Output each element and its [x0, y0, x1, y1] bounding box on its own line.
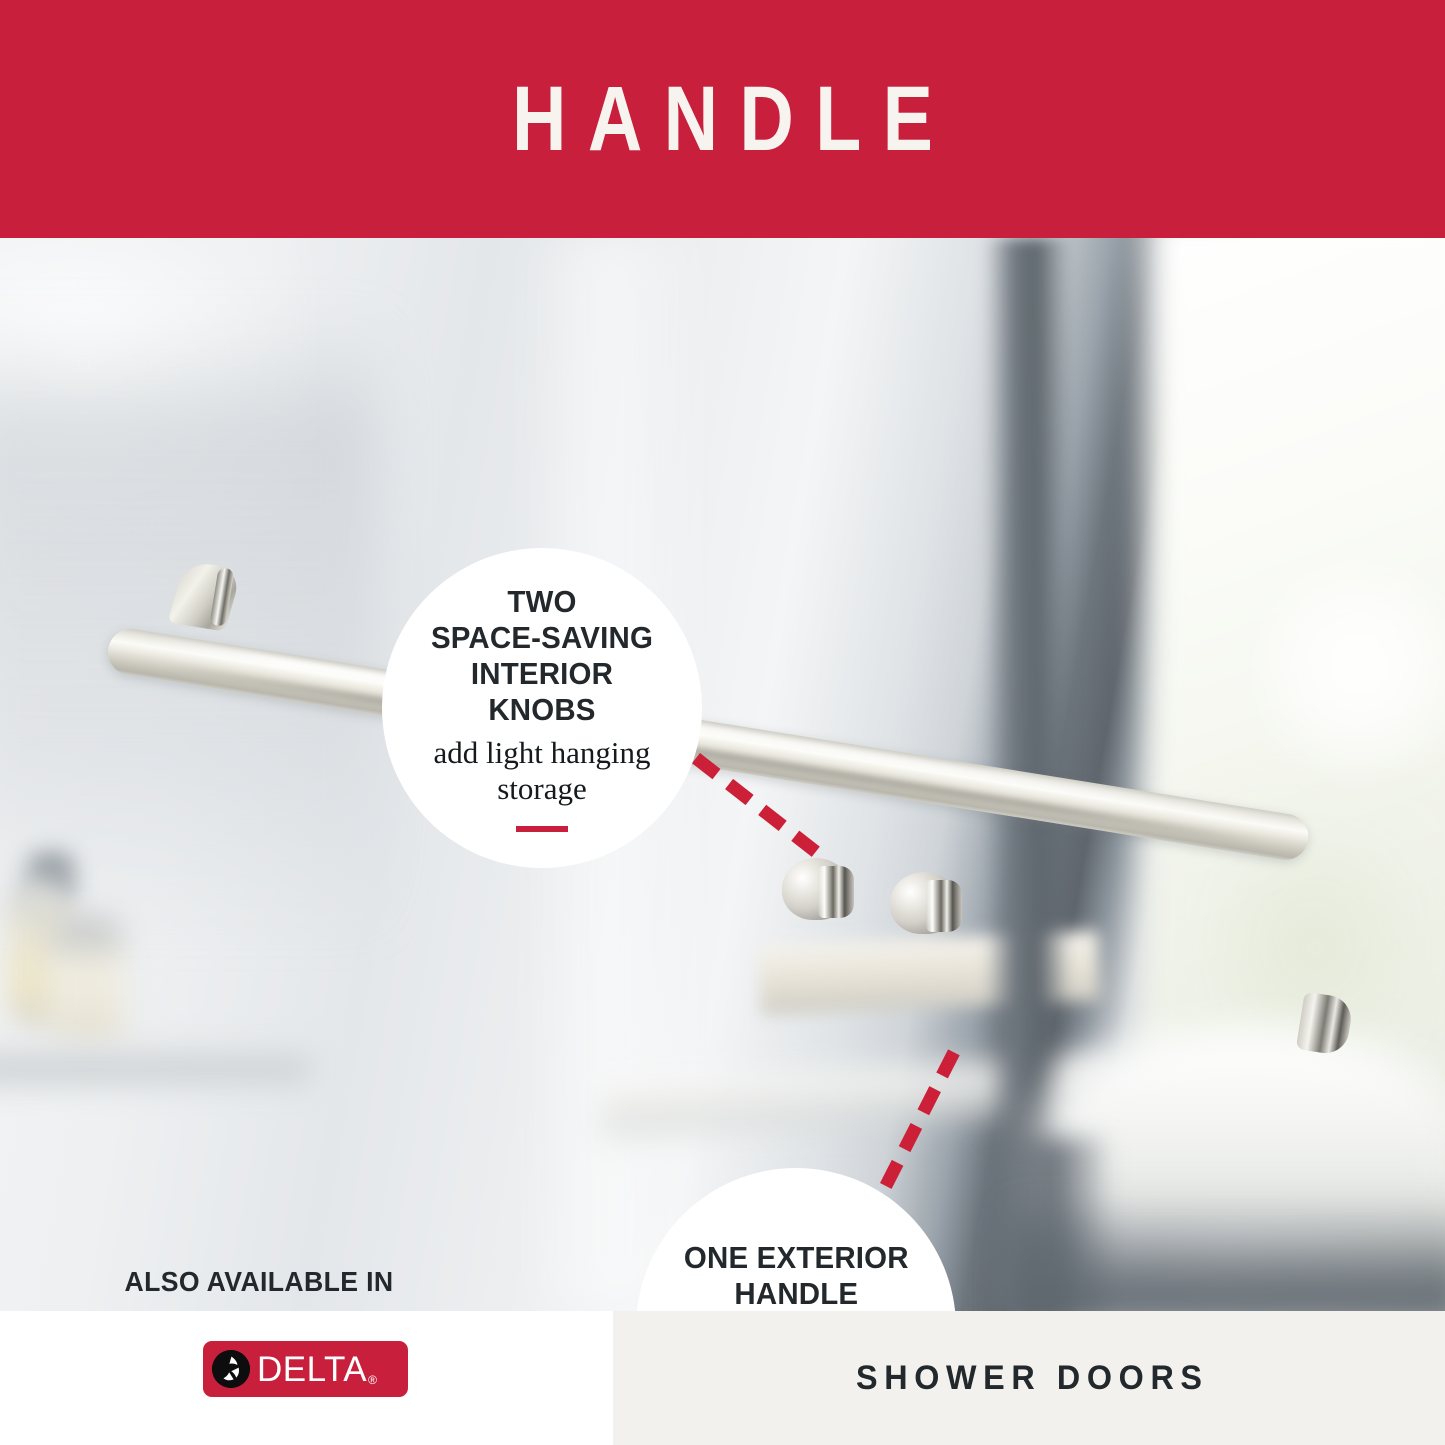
interior-knob-1	[782, 858, 858, 924]
knob-collar	[926, 880, 962, 932]
finish-options: ALSO AVAILABLE IN CHROME BRONZE	[104, 1266, 414, 1311]
callout-interior-knobs: TWO SPACE-SAVING INTERIOR KNOBS add ligh…	[382, 548, 702, 868]
interior-knob-2	[890, 872, 966, 938]
delta-triangle-icon	[212, 1350, 250, 1388]
handle-bar-shadow	[159, 662, 1266, 846]
header-banner: HANDLE	[0, 0, 1445, 238]
callout-heading: ONE EXTERIOR HANDLE	[684, 1240, 909, 1311]
callout-rule	[516, 826, 568, 832]
knob-collar	[818, 866, 854, 918]
finish-options-title: ALSO AVAILABLE IN	[112, 1266, 407, 1298]
delta-logo[interactable]: DELTA ®	[203, 1341, 408, 1397]
handle-bar-highlight	[149, 637, 1266, 825]
callout-heading: TWO SPACE-SAVING INTERIOR KNOBS	[415, 584, 670, 728]
registered-trademark-icon: ®	[368, 1373, 377, 1387]
footer-tagline: SHOWER DOORS	[634, 1311, 1424, 1445]
product-photo: TWO SPACE-SAVING INTERIOR KNOBS add ligh…	[0, 238, 1445, 1311]
delta-wordmark: DELTA	[257, 1352, 367, 1387]
infographic-page: HANDLE	[0, 0, 1445, 1445]
handle-right-endcap	[1296, 991, 1354, 1056]
page-title: HANDLE	[130, 0, 1315, 238]
callout-subtext: add light hanging storage	[434, 735, 651, 807]
